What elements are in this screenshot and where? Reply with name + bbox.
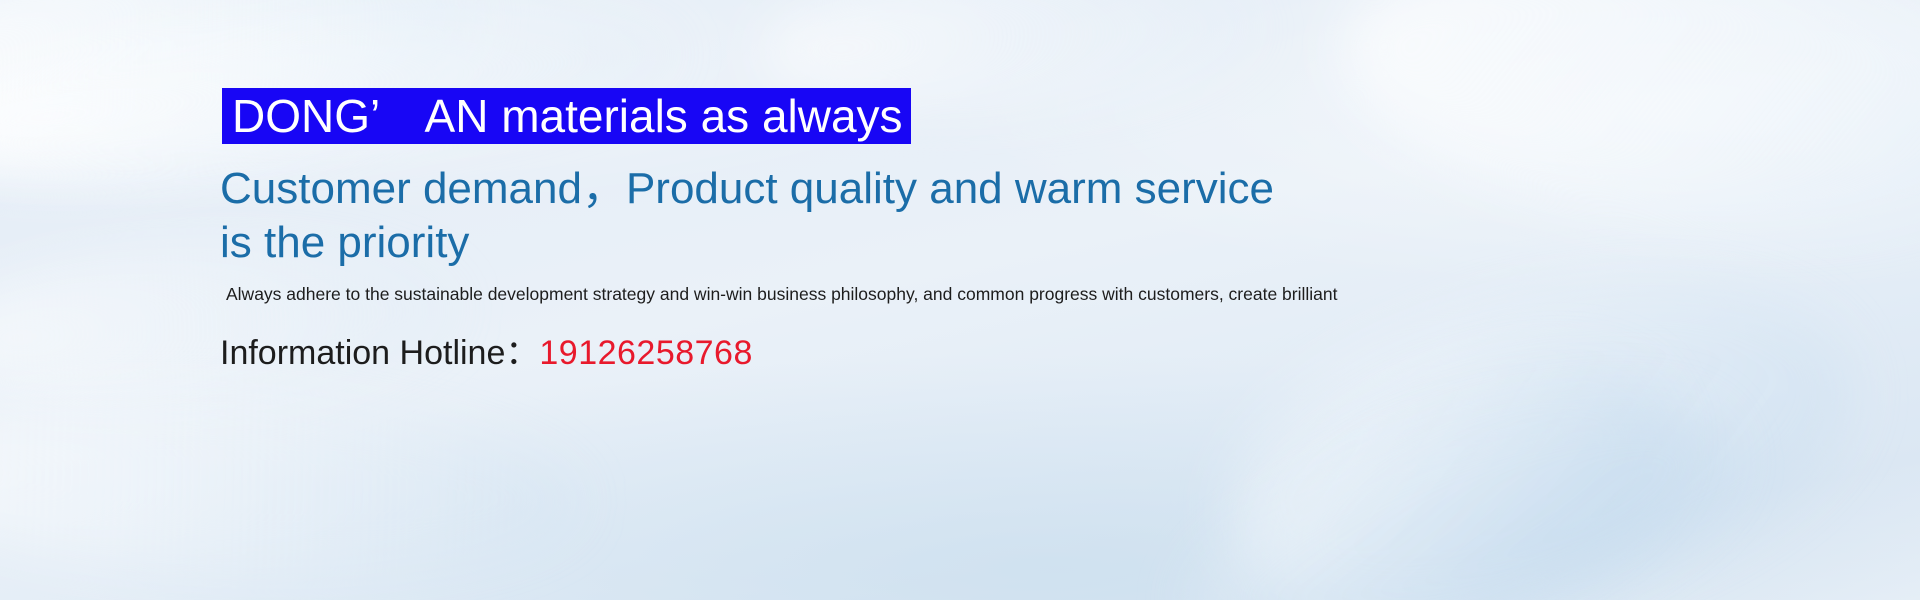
hotline-number[interactable]: 19126258768 (539, 334, 753, 372)
banner-content: DONG’ AN materials as always Customer de… (220, 0, 1700, 600)
hotline-label: Information Hotline (220, 334, 505, 372)
hotline-separator: ： (505, 334, 539, 372)
hotline-row: Information Hotline：19126258768 (220, 330, 753, 376)
banner-headline: DONG’ AN materials as always (222, 88, 911, 144)
promo-banner: DONG’ AN materials as always Customer de… (0, 0, 1920, 600)
banner-description: Always adhere to the sustainable develop… (226, 282, 1338, 306)
headline-container: DONG’ AN materials as always (222, 88, 911, 144)
banner-subheadline: Customer demand，Product quality and warm… (220, 162, 1280, 270)
